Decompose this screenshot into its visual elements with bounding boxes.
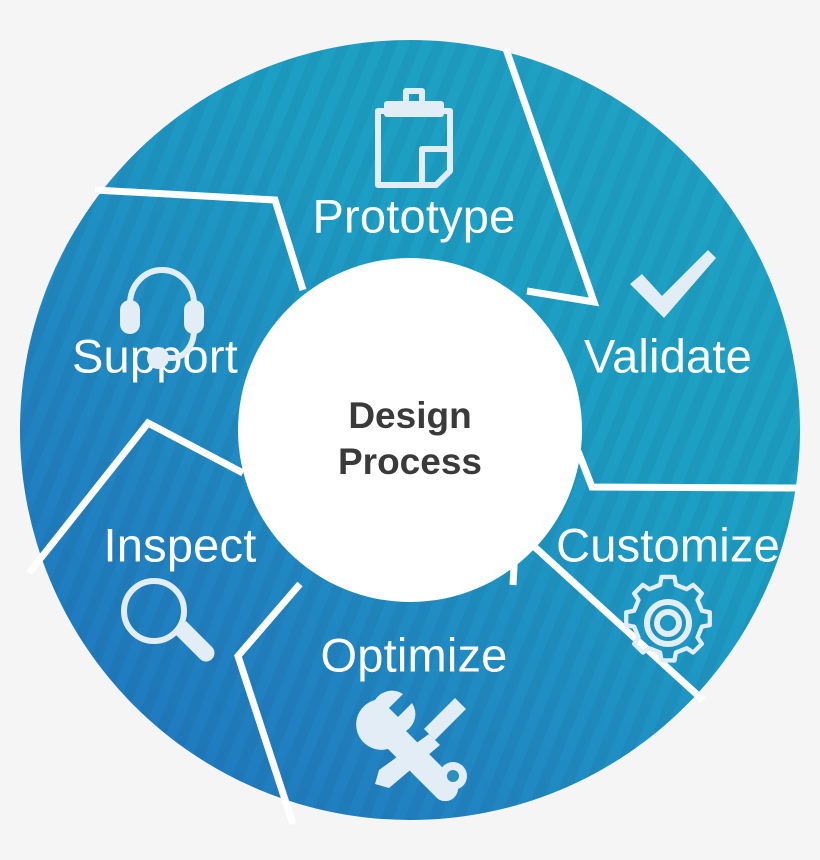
center-title-line1: Design (348, 395, 471, 436)
design-process-diagram: Prototype Validate Customize Optimize In… (0, 0, 820, 860)
segment-label-prototype[interactable]: Prototype (313, 189, 516, 242)
segment-label-optimize[interactable]: Optimize (320, 628, 507, 681)
segment-label-customize[interactable]: Customize (556, 518, 780, 571)
center-title-line2: Process (338, 441, 482, 482)
cycle-wheel-graphic: Prototype Validate Customize Optimize In… (0, 0, 820, 860)
segment-label-inspect[interactable]: Inspect (104, 518, 257, 571)
segment-label-validate[interactable]: Validate (584, 329, 752, 382)
